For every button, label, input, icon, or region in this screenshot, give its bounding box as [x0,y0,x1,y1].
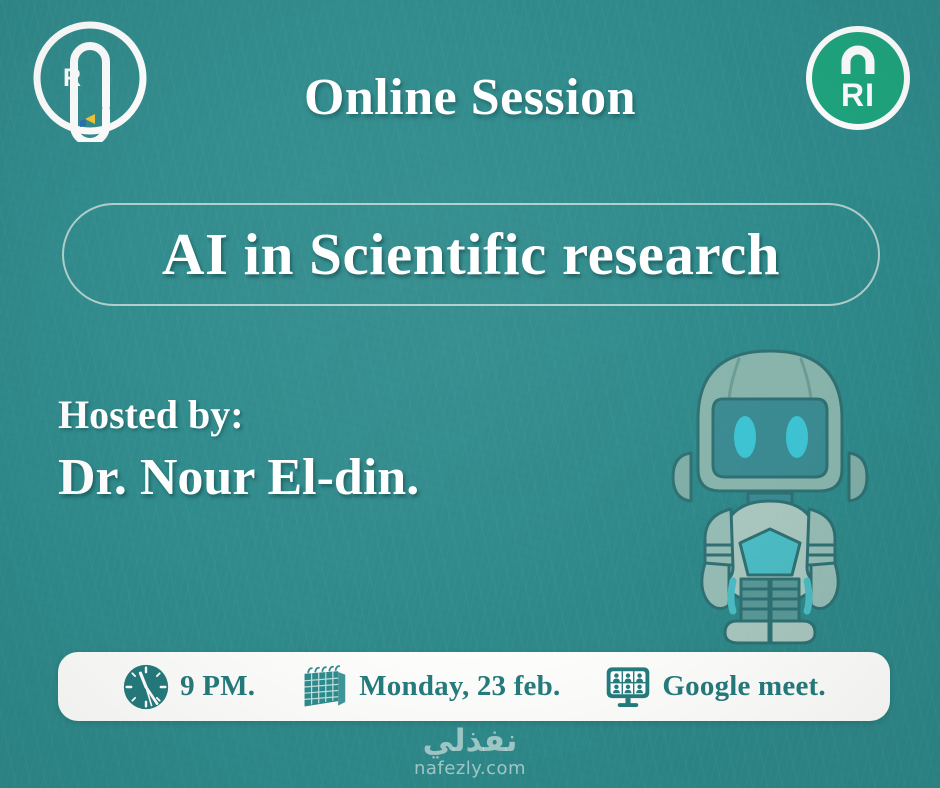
session-title-box: AI in Scientific research [62,203,880,306]
info-label-time: 9 PM. [180,670,255,703]
nri-circle-logo: RI [802,22,914,134]
info-item-platform: Google meet. [604,664,825,710]
robot-mascot [645,333,895,653]
info-label-platform: Google meet. [662,670,825,703]
watermark-arabic: نفذلي [0,726,940,757]
info-item-date: Monday, 23 feb. [299,664,560,710]
host-label: Hosted by: [58,395,419,435]
info-item-time: 9 PM. [122,663,255,711]
info-bar: 9 PM. [58,652,890,721]
watermark: نفذلي nafezly.com [0,726,940,778]
host-name: Dr. Nour El-din. [58,452,419,504]
watermark-latin: nafezly.com [0,760,940,778]
info-label-date: Monday, 23 feb. [359,670,560,703]
video-meeting-icon [604,664,652,710]
page-title: AI in Scientific research [162,220,780,289]
clock-icon [122,663,170,711]
session-label: Online Session [0,68,940,127]
calendar-icon [299,664,349,710]
host-block: Hosted by: Dr. Nour El-din. [58,395,419,504]
poster-canvas: R Online Session RI AI in Scientific res… [0,0,940,788]
svg-text:RI: RI [841,77,875,113]
